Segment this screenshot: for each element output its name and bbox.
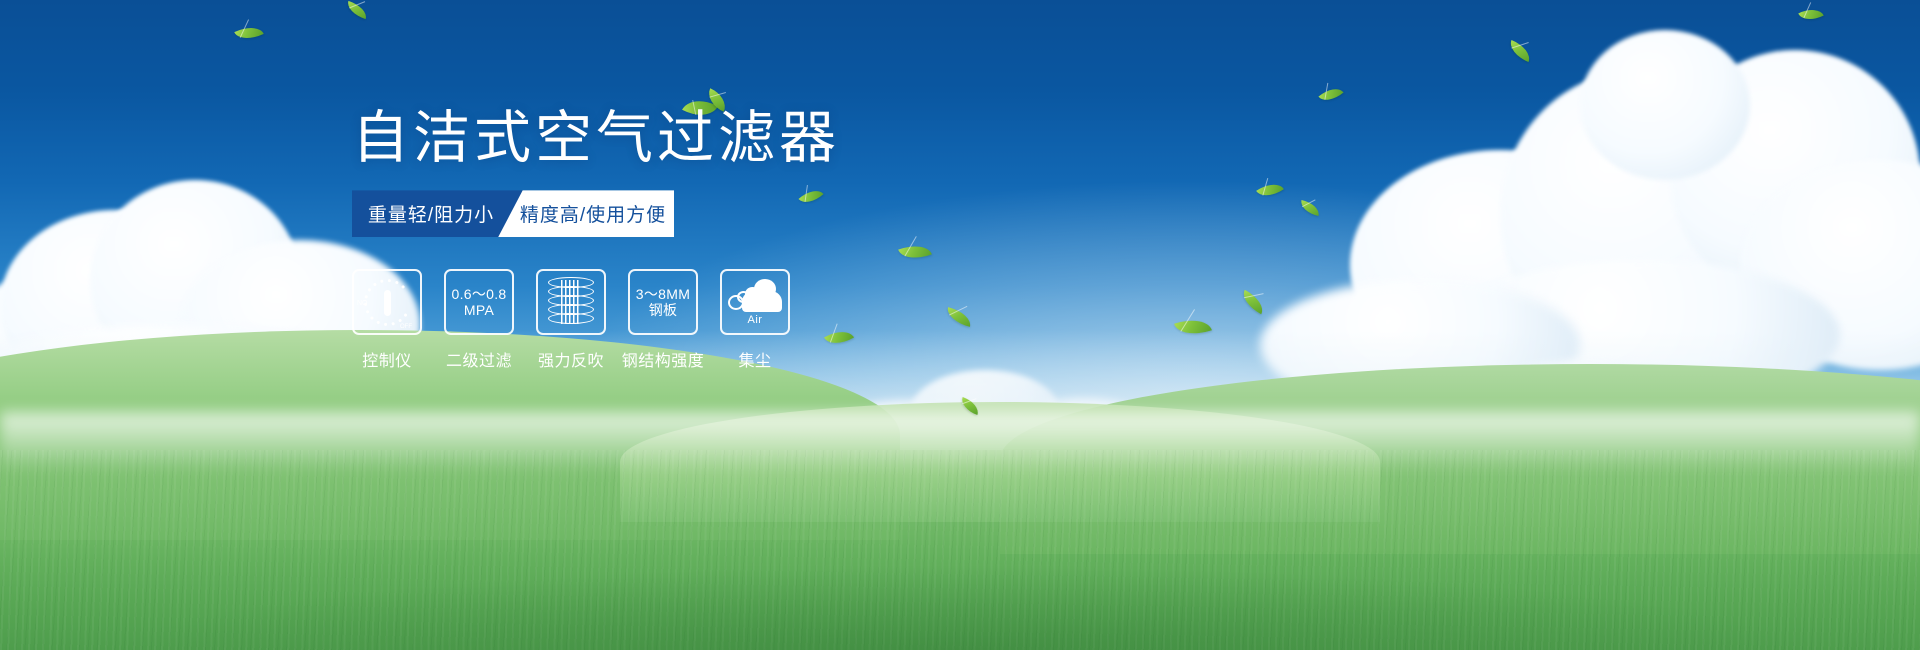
tag-primary: 重量轻/阻力小	[352, 190, 524, 237]
feature-item-controller: NO OFF 控制仪	[352, 269, 422, 371]
steel-material: 钢板	[636, 302, 690, 319]
tag-primary-label: 重量轻/阻力小	[368, 200, 494, 227]
grass-shading	[0, 520, 1920, 650]
gauge-needle	[384, 290, 391, 316]
gauge-label-off: OFF	[400, 324, 412, 330]
pressure-unit: MPA	[451, 302, 506, 319]
spiral-ring	[548, 313, 594, 324]
spiral-filter-icon	[548, 277, 594, 327]
horizon-mist	[0, 412, 1920, 472]
banner-content: 自洁式空气过滤器 重量轻/阻力小 精度高/使用方便	[352, 108, 1112, 371]
tag-secondary-label: 精度高/使用方便	[520, 200, 666, 227]
feature-item-blowback: 强力反吹	[536, 269, 606, 371]
gauge-icon: NO OFF	[358, 276, 416, 328]
leaf-icon	[345, 1, 370, 19]
feature-icon-box: NO OFF	[352, 269, 422, 335]
tag-row: 重量轻/阻力小 精度高/使用方便	[352, 190, 674, 237]
pressure-icon: 0.6～0.8 MPA	[451, 286, 506, 319]
feature-icon-box: Air	[720, 269, 790, 335]
steel-plate-icon: 3～8MM 钢板	[636, 286, 690, 319]
air-label: Air	[748, 314, 763, 326]
feature-row: NO OFF 控制仪 0.6～0.8 MPA 二级过滤	[352, 269, 1112, 371]
leaf-icon	[234, 21, 263, 45]
feature-icon-box: 0.6～0.8 MPA	[444, 269, 514, 335]
feature-item-steel: 3～8MM 钢板 钢结构强度	[628, 269, 698, 371]
leaf-icon	[1798, 4, 1823, 25]
feature-item-pressure: 0.6～0.8 MPA 二级过滤	[444, 269, 514, 371]
gauge-label-no: NO	[357, 300, 368, 307]
feature-label: 控制仪	[362, 347, 412, 371]
cloud-air-icon	[728, 278, 782, 312]
feature-label: 钢结构强度	[622, 347, 705, 371]
feature-icon-box: 3～8MM 钢板	[628, 269, 698, 335]
tag-secondary: 精度高/使用方便	[498, 190, 674, 237]
feature-label: 强力反吹	[538, 347, 604, 371]
pressure-value: 0.6～0.8	[451, 286, 506, 303]
hero-banner: 自洁式空气过滤器 重量轻/阻力小 精度高/使用方便	[0, 0, 1920, 650]
page-title: 自洁式空气过滤器	[352, 108, 1112, 168]
feature-label: 二级过滤	[446, 347, 512, 371]
grass-field	[0, 450, 1920, 650]
feature-icon-box	[536, 269, 606, 335]
steel-thickness: 3～8MM	[636, 286, 690, 303]
feature-item-dust: Air 集尘	[720, 269, 790, 371]
feature-label: 集尘	[738, 347, 771, 371]
